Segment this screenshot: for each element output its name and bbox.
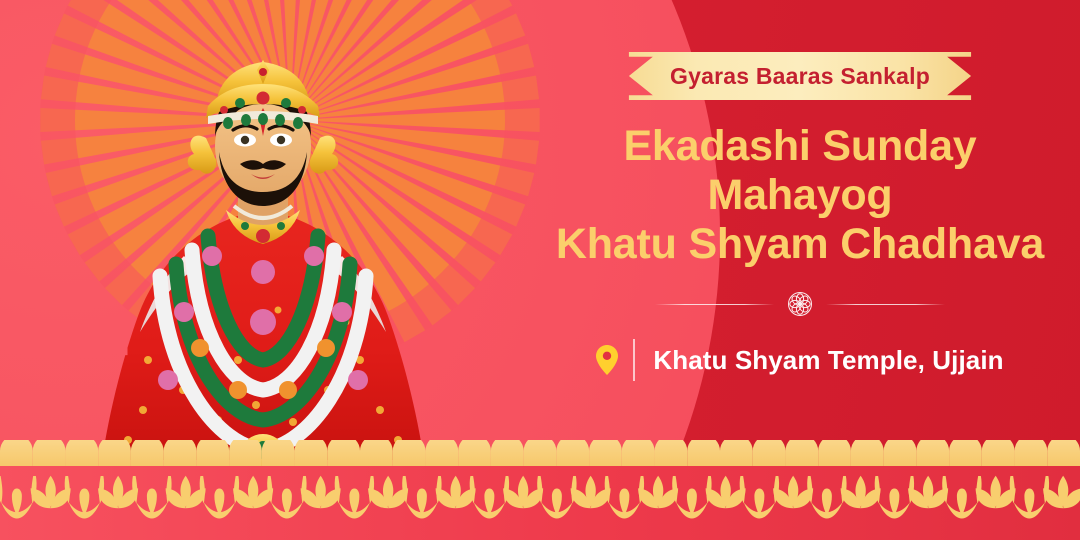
location-row: Khatu Shyam Temple, Ujjain [596, 339, 1003, 381]
rosette-ornament-icon [787, 291, 813, 317]
page-title: Ekadashi Sunday Mahayog Khatu Shyam Chad… [556, 122, 1044, 269]
map-pin-icon [596, 345, 618, 375]
divider-rule-right [826, 304, 945, 305]
ribbon-badge: Gyaras Baaras Sankalp [616, 52, 984, 100]
ribbon-label: Gyaras Baaras Sankalp [670, 63, 930, 90]
banner-content: Gyaras Baaras Sankalp Ekadashi Sunday Ma… [520, 0, 1080, 460]
scalloped-arch-border [0, 440, 1080, 466]
promo-banner: Gyaras Baaras Sankalp Ekadashi Sunday Ma… [0, 0, 1080, 540]
trishul-lotus-motif-border [0, 466, 1080, 540]
headline-line-3: Khatu Shyam Chadhava [556, 220, 1044, 269]
divider-rule-left [655, 304, 774, 305]
headline-line-1: Ekadashi Sunday [556, 122, 1044, 171]
khatu-shyam-deity-illustration [88, 60, 438, 480]
headline-line-2: Mahayog [556, 171, 1044, 220]
divider [655, 291, 945, 317]
location-separator [633, 339, 635, 381]
location-label: Khatu Shyam Temple, Ujjain [653, 345, 1003, 376]
